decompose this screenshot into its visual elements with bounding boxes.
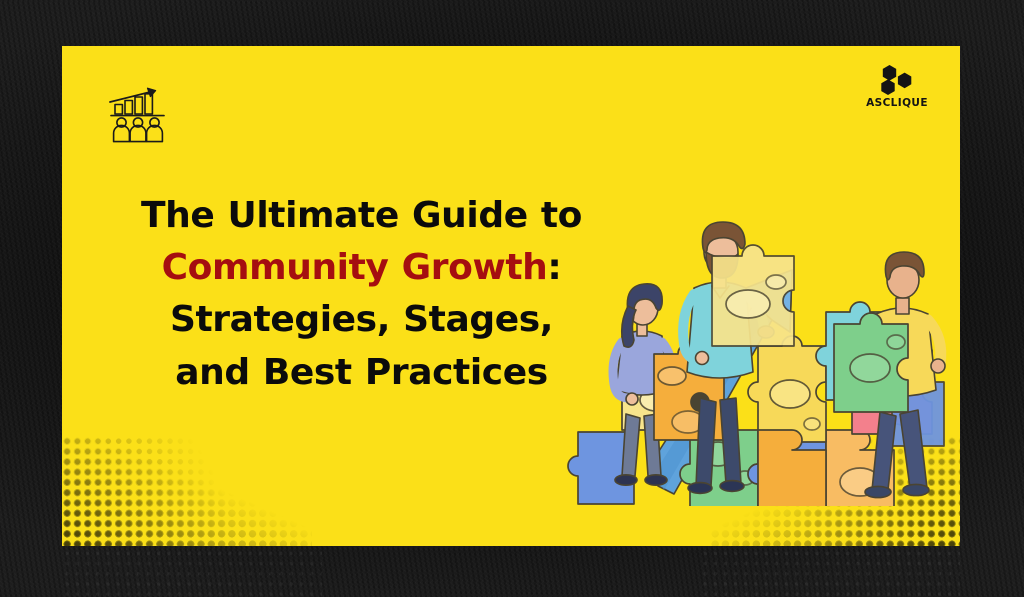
page-title: The Ultimate Guide to Community Growth: … xyxy=(134,190,589,399)
held-piece-pale-yellow xyxy=(712,245,794,346)
brand-logo[interactable]: ASCLIQUE xyxy=(860,64,934,109)
brand-wordmark: ASCLIQUE xyxy=(866,98,928,109)
people-assembling-jigsaw-puzzle xyxy=(540,186,950,506)
halftone-decoration-bottom-left xyxy=(62,436,312,546)
piece-yellow-center xyxy=(748,336,826,442)
halftone-layer-large xyxy=(62,436,312,546)
title-part-one: The Ultimate Guide to xyxy=(141,195,582,236)
title-accent: Community Growth xyxy=(162,247,548,288)
halftone-layer-small xyxy=(62,436,312,546)
banner-card: ASCLIQUE The Ultimate Guide to Community… xyxy=(62,46,960,546)
three-hexagons-icon xyxy=(877,64,917,96)
held-piece-green xyxy=(834,313,908,412)
community-growth-icon xyxy=(107,86,169,144)
